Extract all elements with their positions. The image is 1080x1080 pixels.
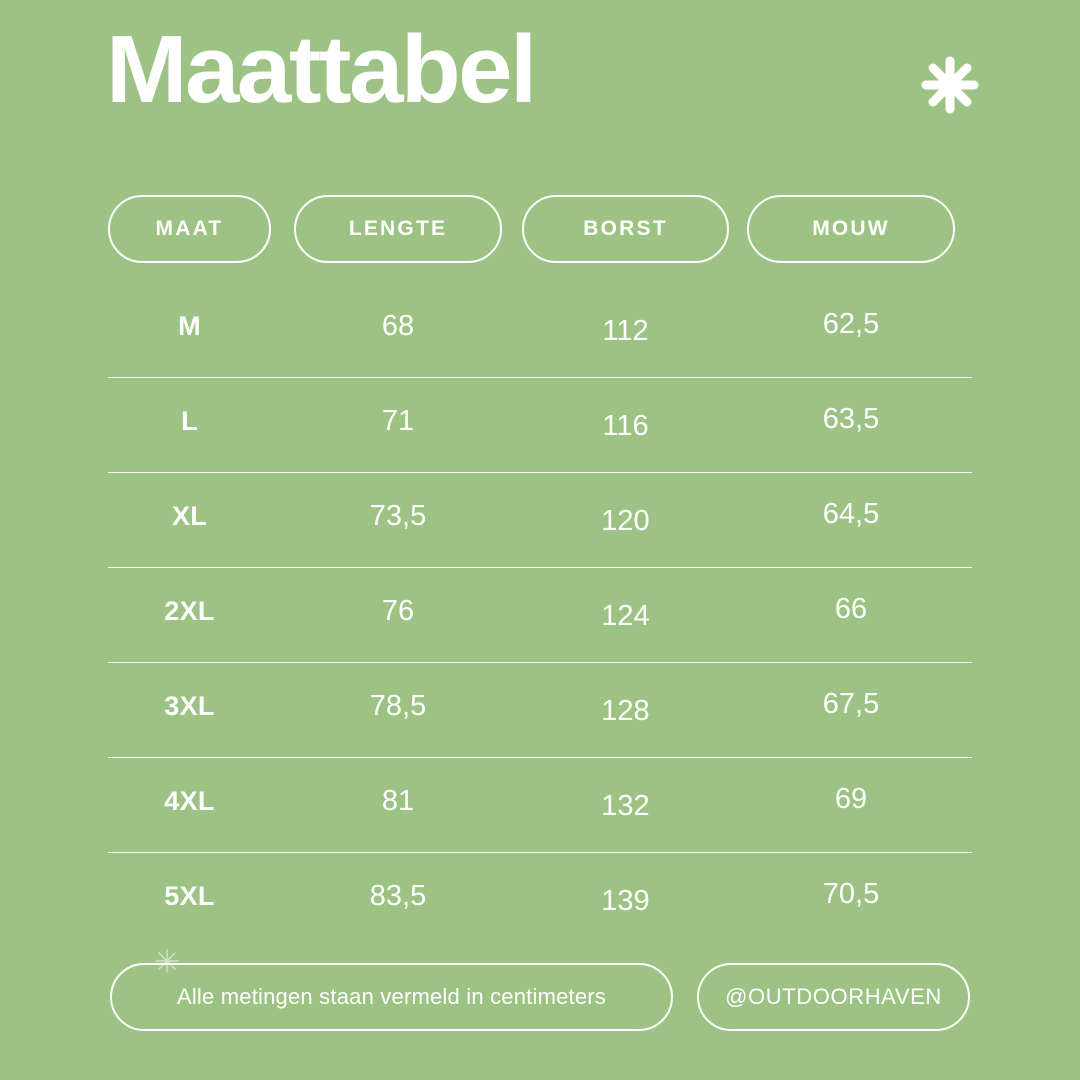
cell-mouw: 70,5 [747,878,955,911]
table-row: L 71 116 63,5 [108,378,972,473]
column-header-label: MAAT [156,217,224,241]
column-header-lengte: LENGTE [294,195,502,263]
column-header-label: BORST [583,217,668,241]
cell-size: 4XL [108,786,271,817]
cell-mouw: 69 [747,783,955,816]
cell-borst: 120 [522,505,729,538]
cell-lengte: 68 [294,310,502,343]
cell-mouw: 62,5 [747,308,955,341]
cell-lengte: 78,5 [294,690,502,723]
cell-borst: 116 [522,410,729,443]
size-chart-page: Maattabel MAAT LENGTE BORST MOUW M 68 [0,0,1080,1080]
table-row: 3XL 78,5 128 67,5 [108,663,972,758]
cell-lengte: 76 [294,595,502,628]
cell-lengte: 71 [294,405,502,438]
social-handle-pill[interactable]: @OUTDOORHAVEN [697,963,970,1031]
table-header-row: MAAT LENGTE BORST MOUW [108,195,972,263]
social-handle-label: @OUTDOORHAVEN [725,984,942,1010]
table-row: 4XL 81 132 69 [108,758,972,853]
cell-mouw: 64,5 [747,498,955,531]
cell-lengte: 73,5 [294,500,502,533]
cell-lengte: 83,5 [294,880,502,913]
cell-borst: 132 [522,790,729,823]
cell-borst: 139 [522,885,729,918]
column-header-mouw: MOUW [747,195,955,263]
table-row: M 68 112 62,5 [108,283,972,378]
cell-mouw: 66 [747,593,955,626]
column-header-label: MOUW [812,217,890,241]
column-header-label: LENGTE [349,217,447,241]
table-row: 5XL 83,5 139 70,5 [108,853,972,947]
asterisk-icon [918,53,982,117]
table-row: 2XL 76 124 66 [108,568,972,663]
cell-size: 5XL [108,881,271,912]
cell-size: L [108,406,271,437]
footer: Alle metingen staan vermeld in centimete… [110,963,972,1031]
size-table: M 68 112 62,5 L 71 116 63,5 XL 73,5 120 … [108,283,972,947]
cell-borst: 112 [522,315,729,348]
cell-mouw: 63,5 [747,403,955,436]
cell-size: M [108,311,271,342]
measurement-note-pill: Alle metingen staan vermeld in centimete… [110,963,673,1031]
column-header-maat: MAAT [108,195,271,263]
table-row: XL 73,5 120 64,5 [108,473,972,568]
cell-borst: 128 [522,695,729,728]
page-title: Maattabel [106,14,535,126]
column-header-borst: BORST [522,195,729,263]
cell-size: XL [108,501,271,532]
measurement-note-label: Alle metingen staan vermeld in centimete… [177,984,606,1010]
cell-lengte: 81 [294,785,502,818]
cell-size: 2XL [108,596,271,627]
cell-borst: 124 [522,600,729,633]
cell-size: 3XL [108,691,271,722]
cell-mouw: 67,5 [747,688,955,721]
